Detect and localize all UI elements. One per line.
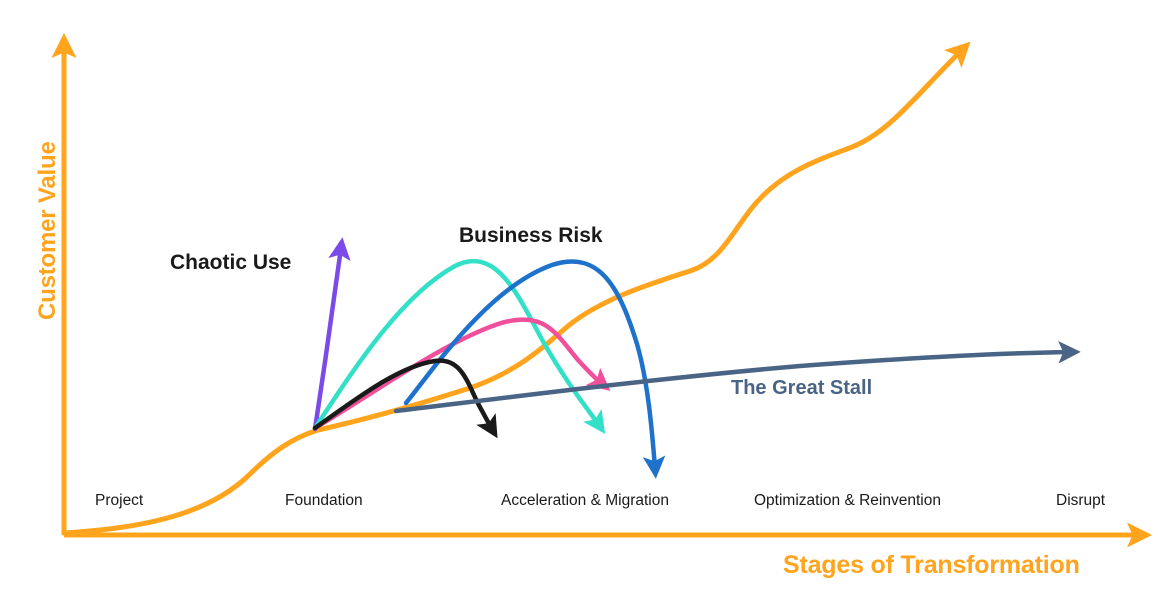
series-chaotic-use-spike: [315, 248, 341, 429]
series-risk-blue: [406, 261, 655, 468]
stage-label-optimization-reinvention: Optimization & Reinvention: [754, 492, 941, 510]
annotation-business-risk: Business Risk: [459, 224, 603, 248]
y-axis-title: Customer Value: [34, 141, 62, 320]
annotation-the-great-stall: The Great Stall: [731, 377, 872, 400]
series-risk-black: [315, 361, 492, 429]
annotation-chaotic-use: Chaotic Use: [170, 251, 291, 275]
chart-canvas: [0, 0, 1164, 602]
stage-label-acceleration-migration: Acceleration & Migration: [501, 492, 669, 510]
stage-label-disrupt: Disrupt: [1056, 492, 1105, 510]
transformation-curve-chart: Customer Value Stages of Transformation …: [0, 0, 1164, 602]
stage-label-project: Project: [95, 492, 143, 510]
stage-label-foundation: Foundation: [285, 492, 363, 510]
x-axis-title: Stages of Transformation: [783, 551, 1080, 580]
